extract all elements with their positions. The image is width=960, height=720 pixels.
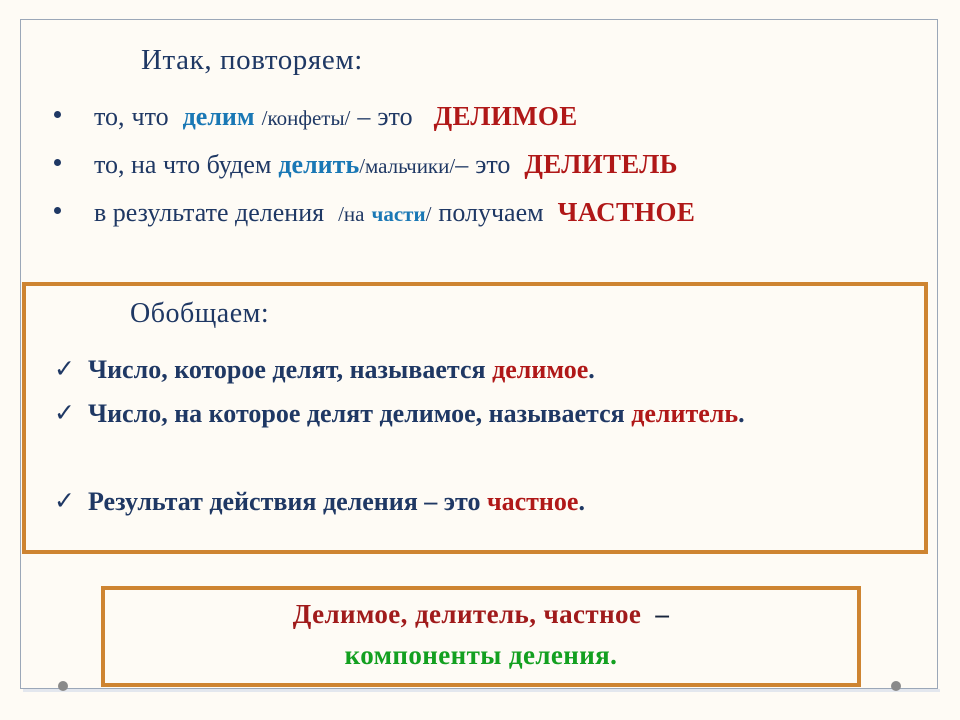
- item3-lead: Результат действия деления – это: [88, 487, 487, 516]
- bullet1-mid: это: [377, 102, 412, 131]
- intro-bullet-text-1: то,чтоделим/конфеты/–этоДЕЛИМОЕ: [94, 92, 578, 142]
- bullet2-term: ДЕЛИТЕЛЬ: [524, 149, 677, 179]
- bullet1-keyword: делим: [183, 102, 255, 131]
- check-icon: ✓: [54, 348, 75, 392]
- decorative-dot-left-icon: [58, 681, 68, 691]
- item3-term: частное: [487, 487, 579, 516]
- generalize-item-1-text: Число, которое делят, называется делимое…: [88, 348, 918, 392]
- bullet2-mid: это: [475, 150, 510, 179]
- item2-term: делитель: [631, 399, 738, 428]
- intro-bullet-item-3: в результате деления/начасти/получаемЧАС…: [21, 188, 937, 236]
- bullet2-pre: то, на что будем: [94, 150, 271, 179]
- bullet1-dash: –: [357, 102, 370, 131]
- intro-bullet-text-3: в результате деления/начасти/получаемЧАС…: [94, 188, 695, 238]
- bullet3-pre: в результате деления: [94, 198, 324, 227]
- slide-canvas: Итак, повторяем: то,чтоделим/конфеты/–эт…: [0, 0, 960, 720]
- summary-terms: Делимое, делитель, частное: [293, 599, 642, 629]
- bullet3-keyword: части: [371, 202, 425, 226]
- generalize-heading: Обобщаем:: [130, 298, 269, 330]
- intro-heading: Итак, повторяем:: [141, 44, 363, 77]
- bullet1-pre: то,: [94, 102, 125, 131]
- bullet-dot-icon: [54, 111, 61, 118]
- bullet1-term: ДЕЛИМОЕ: [434, 101, 578, 131]
- intro-section: Итак, повторяем: то,чтоделим/конфеты/–эт…: [21, 20, 937, 273]
- bullet3-paren-close: /: [426, 202, 432, 226]
- generalize-item-2: ✓ Число, на которое делят делимое, назыв…: [26, 392, 924, 480]
- intro-bullet-text-2: то, на что будемделить/мальчики/–этоДЕЛИ…: [94, 140, 678, 190]
- item1-lead: Число, которое делят, называется: [88, 355, 492, 384]
- bullet3-paren-open: /на: [338, 202, 364, 226]
- generalize-box: Обобщаем: ✓ Число, которое делят, называ…: [22, 282, 928, 554]
- summary-box: Делимое, делитель, частное– компоненты д…: [101, 586, 861, 687]
- item1-tail: .: [588, 355, 595, 384]
- summary-line-2: компоненты деления.: [105, 640, 857, 671]
- bullet2-dash: –: [455, 150, 468, 179]
- generalize-item-1: ✓ Число, которое делят, называется делим…: [26, 348, 924, 392]
- generalize-item-3: ✓ Результат действия деления – это частн…: [26, 480, 924, 524]
- bullet-dot-icon: [54, 159, 61, 166]
- generalize-item-3-text: Результат действия деления – это частное…: [88, 480, 918, 524]
- item3-tail: .: [578, 487, 585, 516]
- intro-bullet-item-2: то, на что будемделить/мальчики/–этоДЕЛИ…: [21, 140, 937, 188]
- generalize-check-list: ✓ Число, которое делят, называется делим…: [26, 348, 924, 524]
- bullet1-paren: /конфеты/: [262, 106, 351, 130]
- check-icon: ✓: [54, 392, 75, 436]
- item1-term: делимое: [492, 355, 588, 384]
- bullet1-pre2: что: [132, 102, 169, 131]
- bullet-dot-icon: [54, 207, 61, 214]
- intro-bullet-item-1: то,чтоделим/конфеты/–этоДЕЛИМОЕ: [21, 92, 937, 140]
- intro-bullet-list: то,чтоделим/конфеты/–этоДЕЛИМОЕ то, на ч…: [21, 92, 937, 236]
- bullet3-term: ЧАСТНОЕ: [558, 197, 696, 227]
- generalize-item-2-text: Число, на которое делят делимое, называе…: [88, 392, 918, 436]
- item2-lead: Число, на которое делят делимое, называе…: [88, 399, 631, 428]
- bullet3-mid: получаем: [438, 198, 543, 227]
- bullet2-keyword: делить: [278, 150, 359, 179]
- item2-tail: .: [738, 399, 745, 428]
- summary-line-1: Делимое, делитель, частное–: [105, 599, 857, 630]
- summary-dash: –: [655, 599, 669, 629]
- check-icon: ✓: [54, 480, 75, 524]
- bullet2-paren: /мальчики/: [359, 154, 455, 178]
- decorative-dot-right-icon: [891, 681, 901, 691]
